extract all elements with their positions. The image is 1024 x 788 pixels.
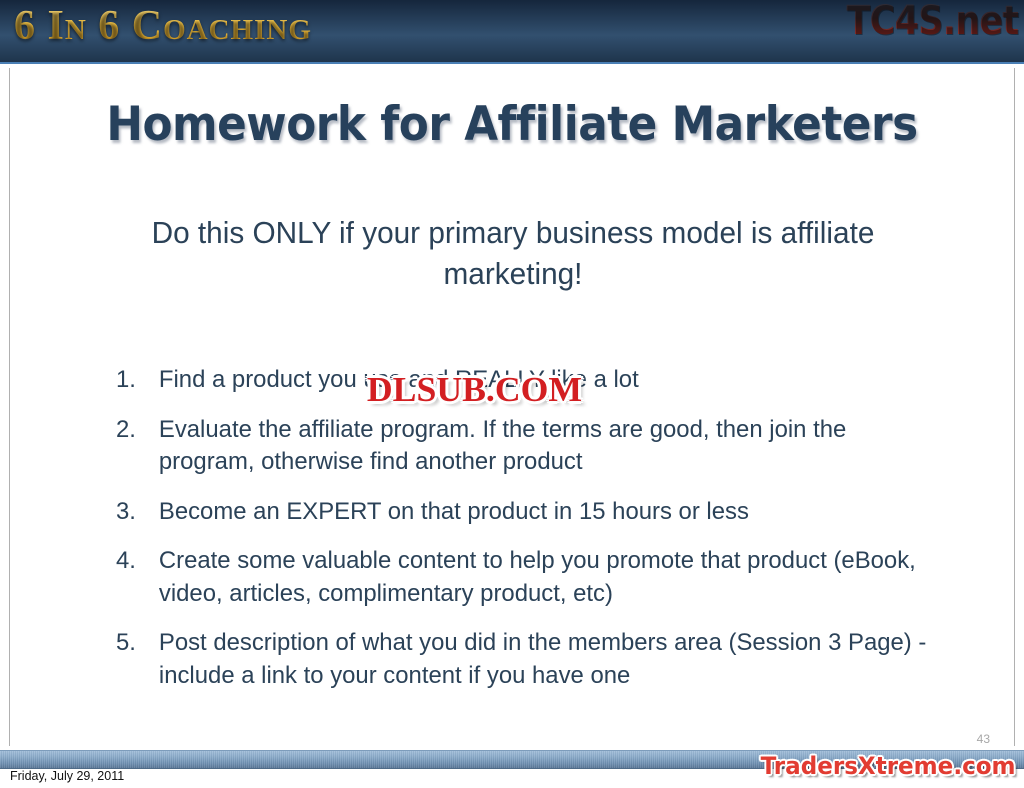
list-item-text: Become an EXPERT on that product in 15 h… bbox=[159, 498, 749, 525]
list-item: 5. Post description of what you did in t… bbox=[116, 627, 935, 692]
list-item-number: 2. bbox=[116, 414, 145, 447]
watermark-overlay: DLSUB.COM bbox=[367, 370, 582, 410]
footer-logo: TradersXtreme.com bbox=[761, 752, 1016, 780]
page-title: Homework for Affiliate Marketers bbox=[36, 97, 988, 152]
presentation-slide: 6 In 6 Coaching TC4S.net Homework for Af… bbox=[0, 0, 1024, 788]
list-item: 4. Create some valuable content to help … bbox=[116, 545, 935, 610]
footer-date: Friday, July 29, 2011 bbox=[10, 769, 124, 783]
list-item-text: Create some valuable content to help you… bbox=[159, 547, 916, 607]
brand-title: 6 In 6 Coaching bbox=[14, 2, 312, 50]
list-item: 3. Become an EXPERT on that product in 1… bbox=[116, 496, 935, 529]
list-item: 2. Evaluate the affiliate program. If th… bbox=[116, 414, 935, 479]
list-item-number: 5. bbox=[116, 627, 145, 660]
slide-number: 43 bbox=[977, 732, 990, 746]
slide-border-right bbox=[1014, 68, 1015, 746]
slide-border-left bbox=[9, 68, 10, 746]
site-logo: TC4S.net bbox=[846, 0, 1018, 44]
list-item-number: 4. bbox=[116, 545, 145, 578]
header-banner: 6 In 6 Coaching TC4S.net bbox=[0, 0, 1024, 64]
homework-list: 1. Find a product you use and REALLY lik… bbox=[116, 364, 956, 710]
list-item-number: 1. bbox=[116, 364, 145, 397]
slide-subtitle: Do this ONLY if your primary business mo… bbox=[126, 212, 900, 294]
list-item-text: Post description of what you did in the … bbox=[159, 629, 926, 689]
list-item-number: 3. bbox=[116, 496, 145, 529]
list-item-text: Evaluate the affiliate program. If the t… bbox=[159, 416, 846, 476]
